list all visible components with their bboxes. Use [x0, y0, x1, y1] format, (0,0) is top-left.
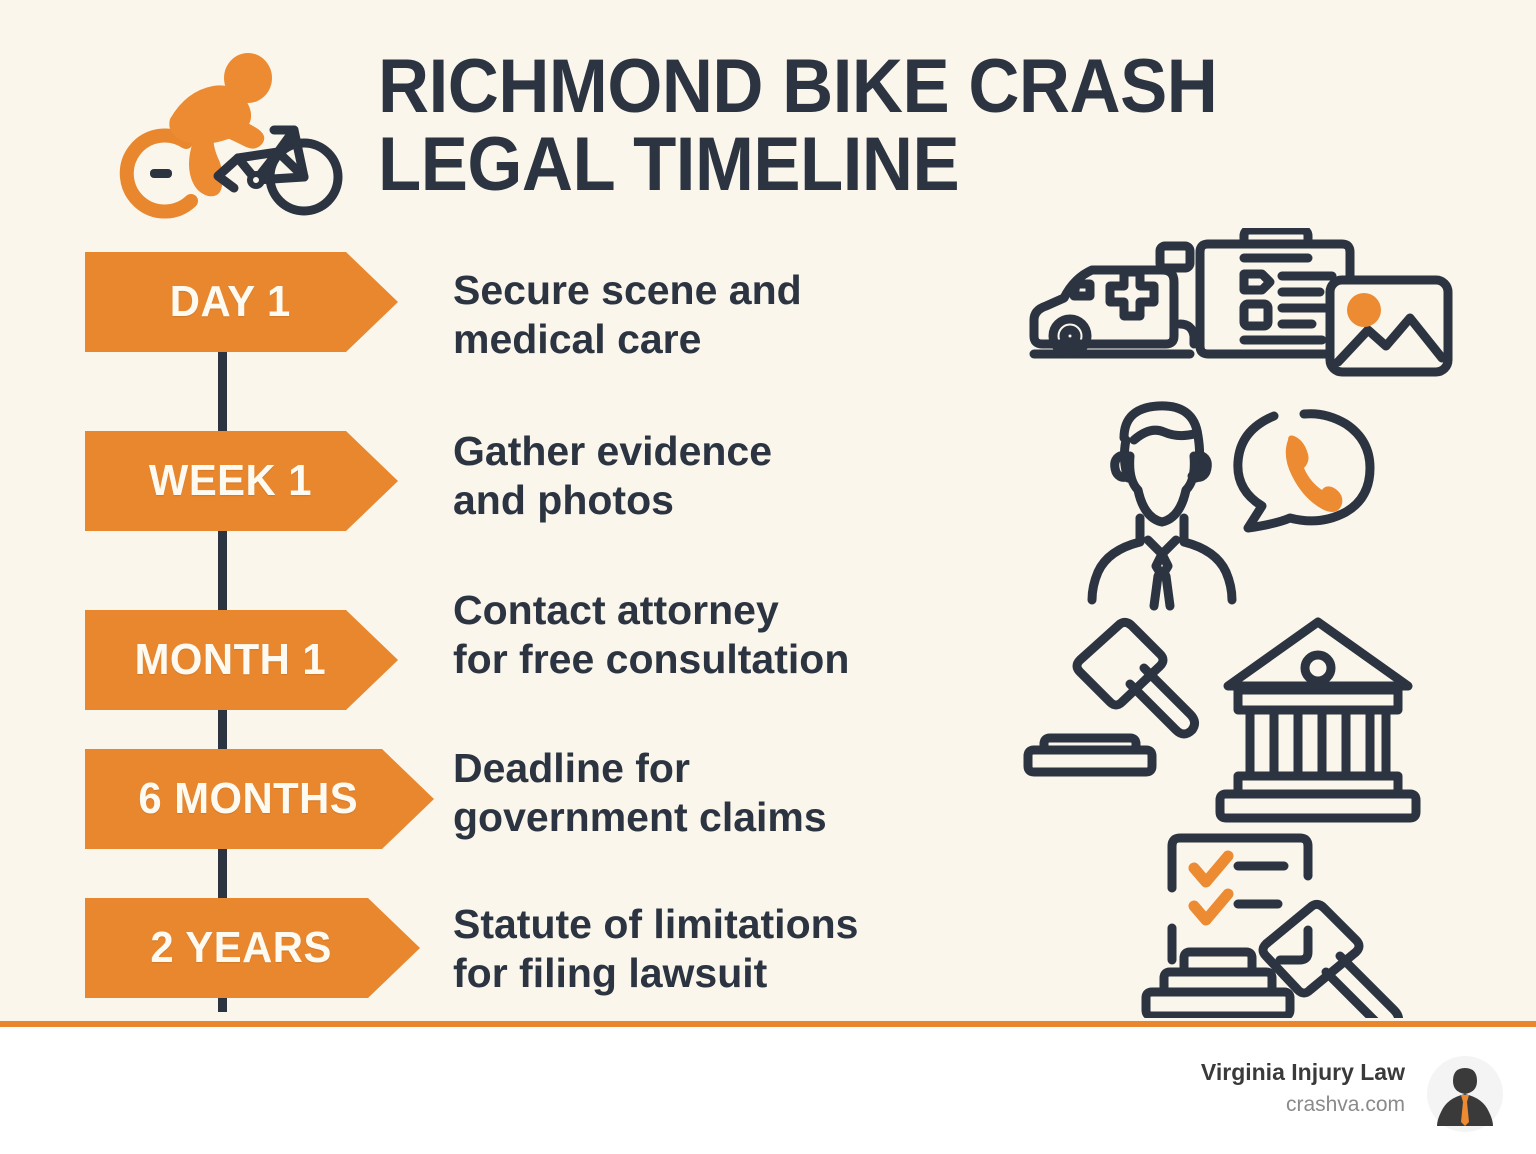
- attorney-person-icon: [1092, 406, 1232, 606]
- footer-brand-block: Virginia Injury Law crashva.com: [1201, 1058, 1405, 1119]
- infographic-root: Richmond Bike Crash Legal Timeline DAY 1…: [0, 0, 1536, 1154]
- ambulance-icon: [1034, 246, 1194, 354]
- step-description-month-1: Contact attorney for free consultation: [453, 586, 1033, 684]
- photo-icon: [1330, 280, 1448, 372]
- courthouse-icon: [1220, 622, 1416, 818]
- checkmark-icon-1: [1194, 856, 1228, 882]
- timeline-badge-week-1[interactable]: WEEK 1: [85, 431, 398, 531]
- brand-url[interactable]: crashva.com: [1201, 1090, 1405, 1119]
- falling-cyclist-icon: [108, 46, 358, 226]
- step-description-6-months: Deadline for government claims: [453, 744, 1033, 842]
- badge-label: DAY 1: [170, 277, 291, 327]
- gavel-icon: [1028, 622, 1195, 772]
- checkmark-icon-2: [1194, 894, 1228, 920]
- timeline-badge-day-1[interactable]: DAY 1: [85, 252, 398, 352]
- footer-divider: [0, 1021, 1536, 1027]
- checklist-gavel-icon: [1146, 838, 1399, 1018]
- photo-sun-dot: [1347, 293, 1381, 327]
- badge-label: 6 MONTHS: [138, 774, 358, 824]
- badge-label: WEEK 1: [149, 456, 312, 506]
- phone-handset-glyph: [1286, 436, 1343, 513]
- timeline-badge-month-1[interactable]: MONTH 1: [85, 610, 398, 710]
- legal-illustration-group: [1012, 228, 1474, 1018]
- badge-label: MONTH 1: [134, 635, 325, 685]
- badge-label: 2 YEARS: [150, 923, 331, 973]
- page-title: Richmond Bike Crash Legal Timeline: [378, 48, 1392, 205]
- step-description-week-1: Gather evidence and photos: [453, 427, 1033, 525]
- timeline: DAY 1 WEEK 1 MONTH 1 6 MONTHS 2 YEARS: [85, 252, 485, 1012]
- brand-name: Virginia Injury Law: [1201, 1058, 1405, 1087]
- step-description-day-1: Secure scene and medical care: [453, 266, 1033, 364]
- timeline-badge-2-years[interactable]: 2 YEARS: [85, 898, 420, 998]
- attorney-avatar: [1425, 1054, 1505, 1134]
- step-description-2-years: Statute of limitations for filing lawsui…: [453, 900, 1033, 998]
- timeline-badge-6-months[interactable]: 6 MONTHS: [85, 749, 434, 849]
